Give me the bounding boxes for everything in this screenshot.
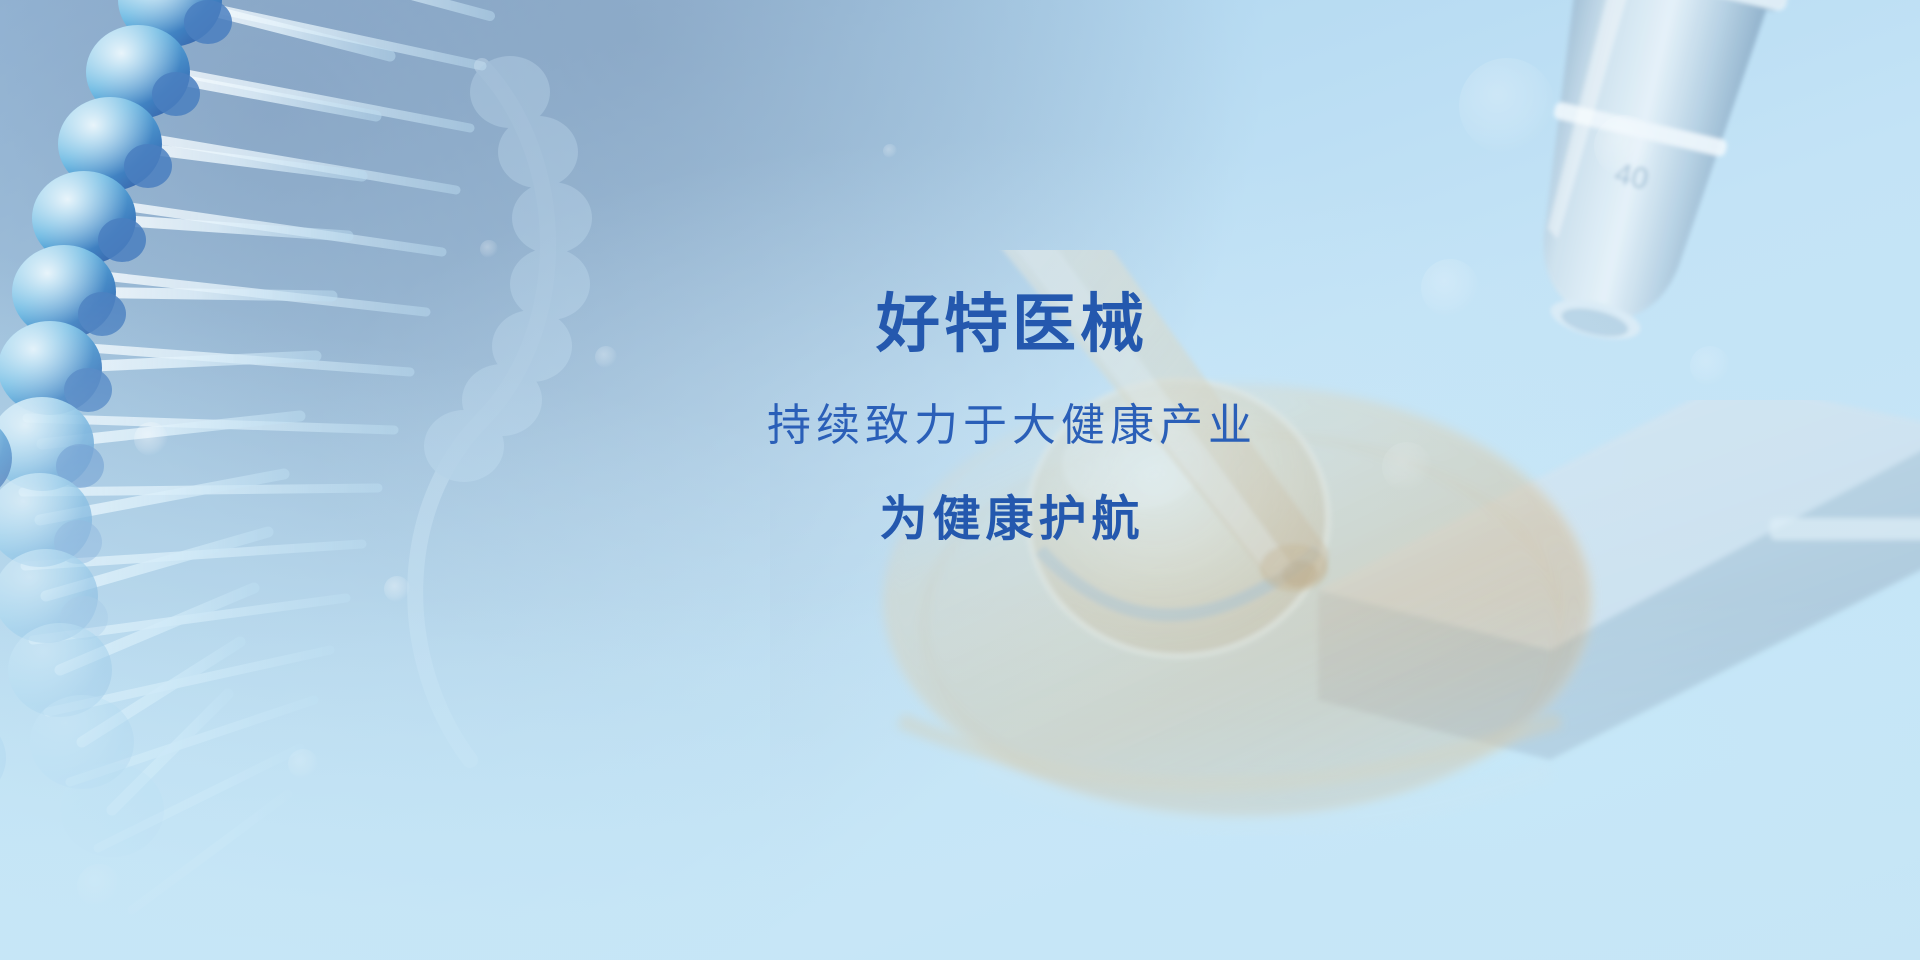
hero-tagline: 为健康护航: [879, 496, 1144, 544]
hero-copy: 好特医械 持续致力于大健康产业 为健康护航: [0, 0, 1920, 960]
hero-banner: 40: [0, 0, 1920, 960]
hero-subtitle: 持续致力于大健康产业: [767, 404, 1257, 448]
page-title: 好特医械: [876, 292, 1148, 356]
